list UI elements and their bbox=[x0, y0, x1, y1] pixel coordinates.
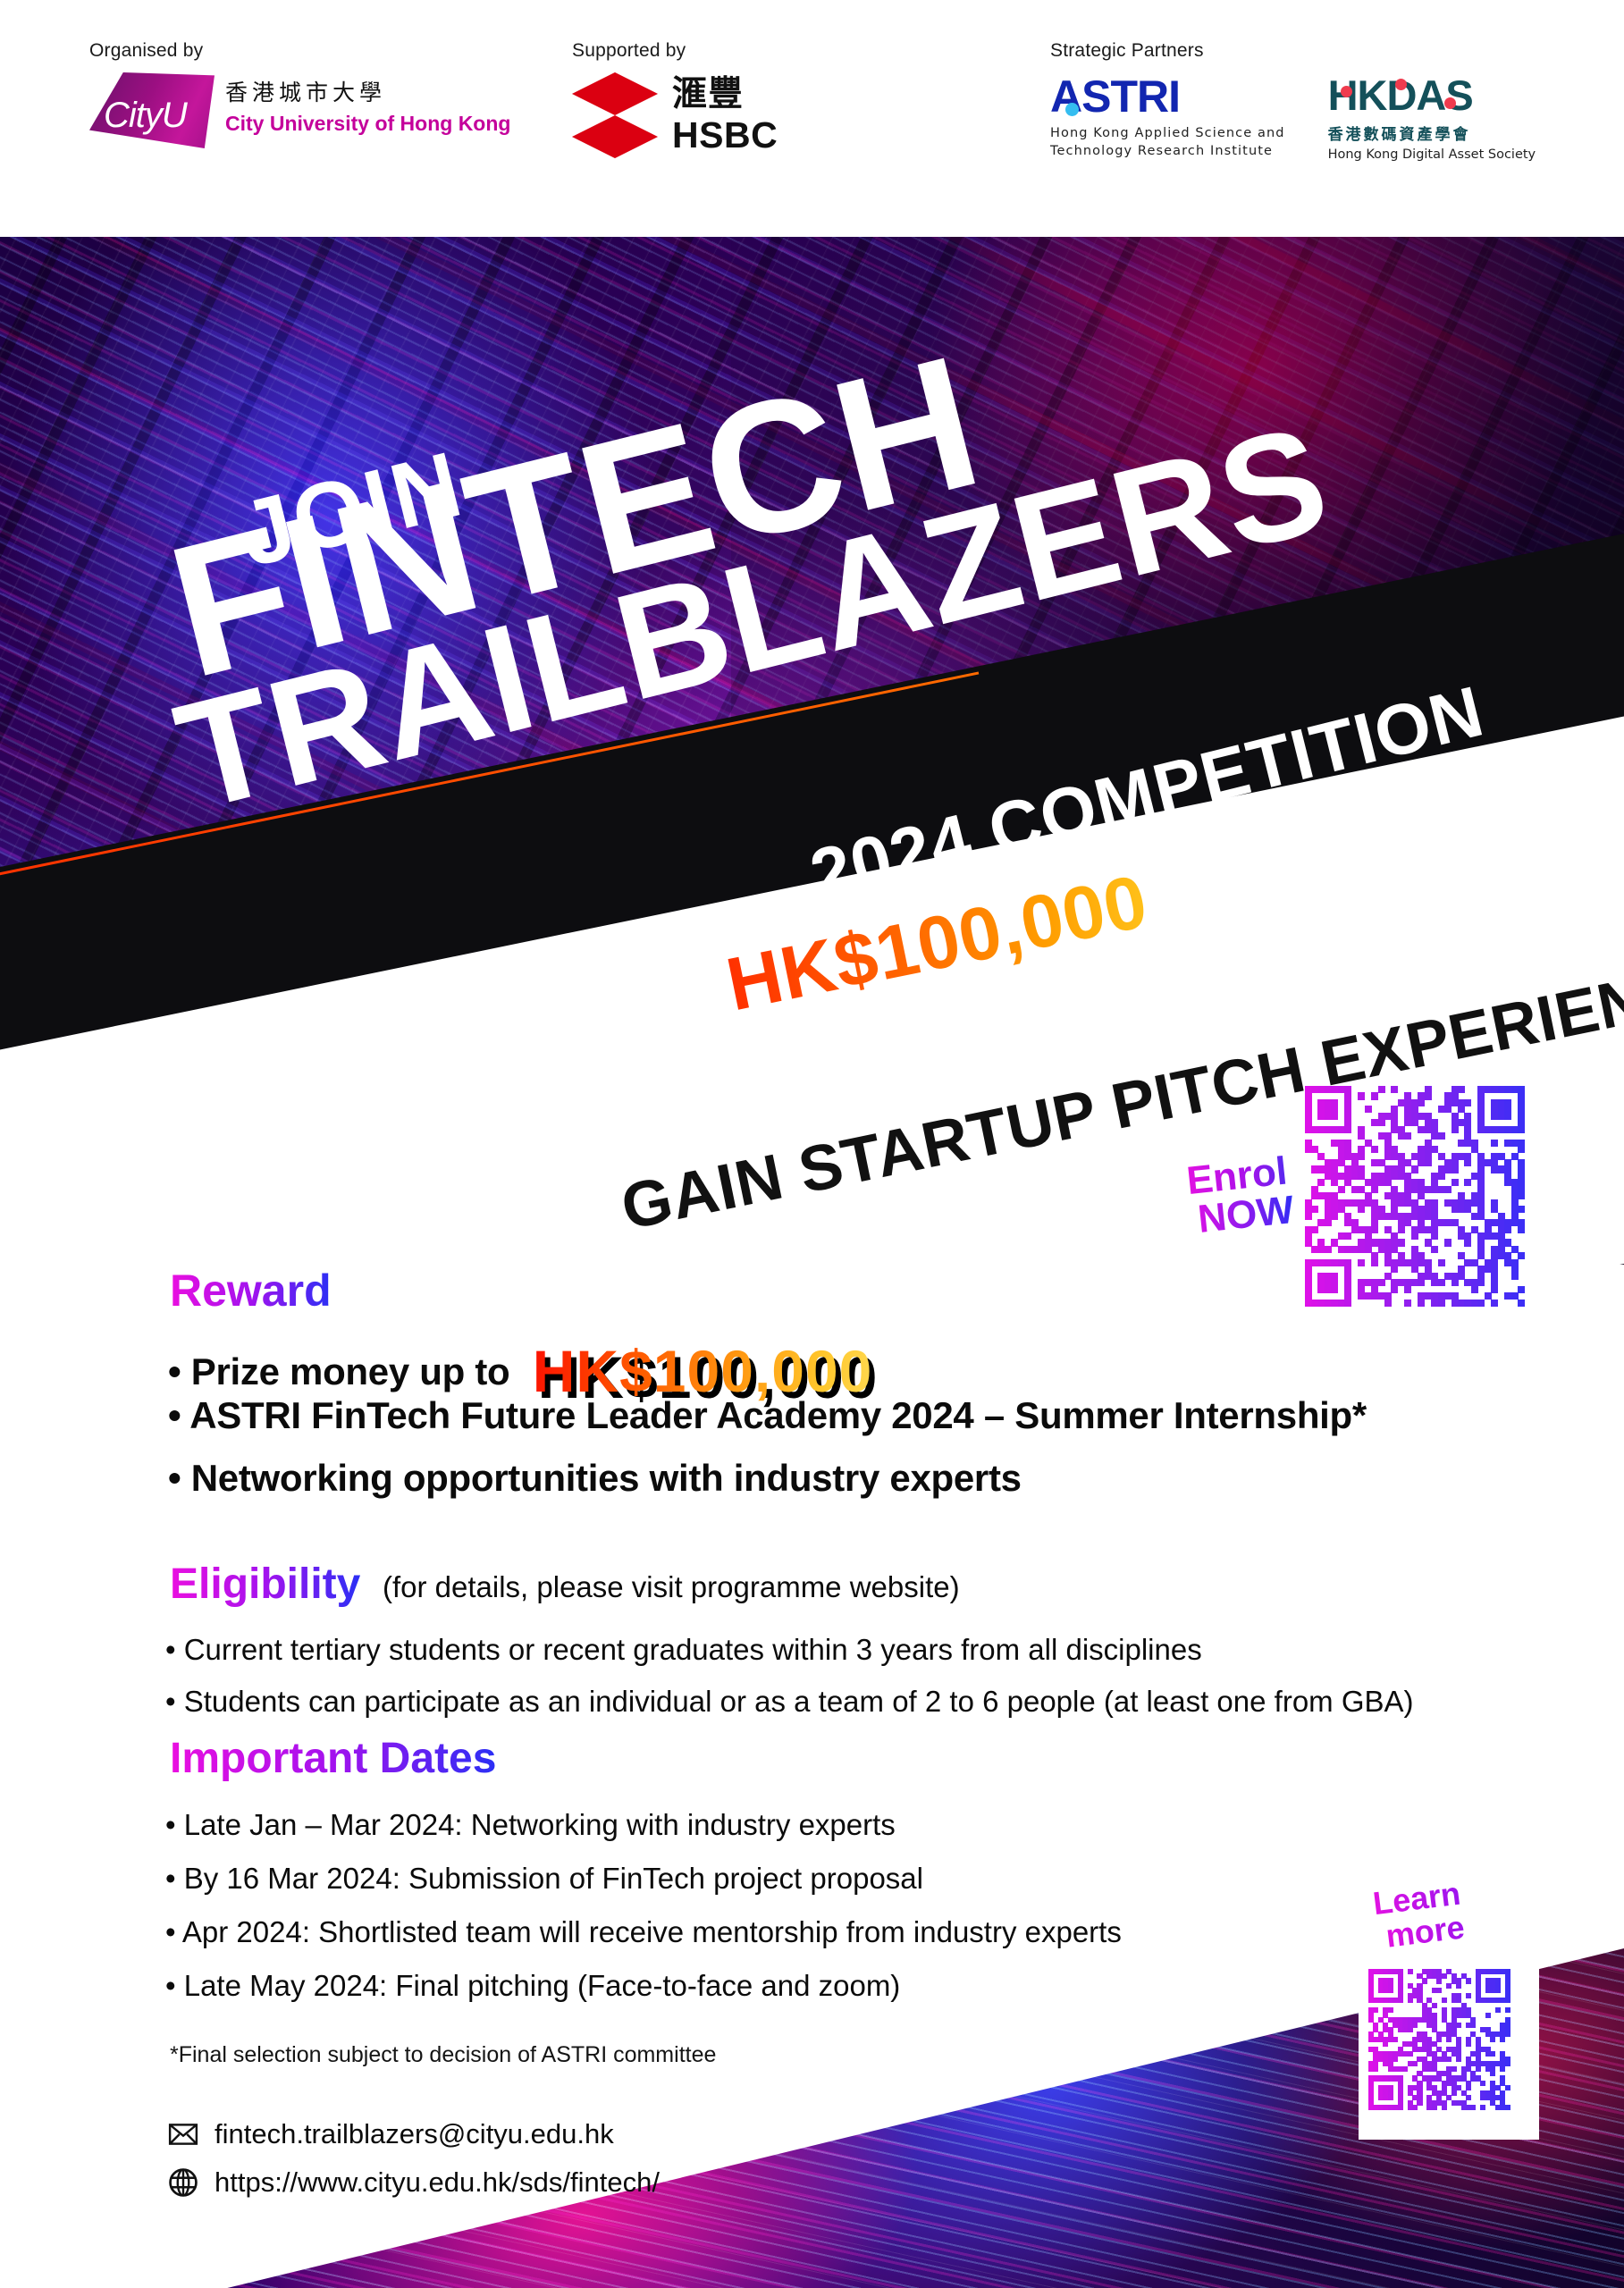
enrol-qr-code[interactable] bbox=[1305, 1086, 1525, 1306]
eligibility-item-2: • Students can participate as an individ… bbox=[165, 1685, 1414, 1719]
reward-prize-amount-fill: HK$100,000 bbox=[533, 1338, 873, 1404]
hsbc-hexagon-icon bbox=[572, 72, 658, 158]
contact-email-line[interactable]: fintech.trailblazers@cityu.edu.hk bbox=[168, 2118, 660, 2150]
reward-bullet-1: • Prize money up to HK$100,000 HK$100,00… bbox=[168, 1330, 872, 1398]
important-date-item-2: • By 16 Mar 2024: Submission of FinTech … bbox=[165, 1862, 923, 1896]
organised-by-label: Organised by bbox=[89, 40, 510, 62]
hkdas-name-zh: 香港數碼資產學會 bbox=[1328, 122, 1536, 144]
hkdas-dot-icon-3 bbox=[1444, 97, 1456, 109]
reward-bullet-1-text: • Prize money up to bbox=[168, 1350, 509, 1392]
astri-subtitle-line1: Hong Kong Applied Science and bbox=[1050, 125, 1285, 143]
important-date-item-4: • Late May 2024: Final pitching (Face-to… bbox=[165, 1969, 900, 2003]
learn-more-block[interactable]: Learn more bbox=[1359, 1877, 1539, 2140]
hkdas-name-en: Hong Kong Digital Asset Society bbox=[1328, 147, 1536, 162]
hkdas-dot-icon-2 bbox=[1395, 79, 1407, 90]
eligibility-item-1: • Current tertiary students or recent gr… bbox=[165, 1633, 1202, 1667]
cityu-name-zh: 香港城市大學 bbox=[225, 75, 510, 107]
poster-root: Organised by CityU 香港城市大學 City Universit… bbox=[0, 0, 1624, 2288]
contact-website-text: https://www.cityu.edu.hk/sds/fintech/ bbox=[215, 2166, 660, 2199]
envelope-icon bbox=[168, 2119, 198, 2149]
learn-qr-frame bbox=[1359, 1959, 1539, 2140]
learn-more-qr-code[interactable] bbox=[1368, 1969, 1510, 2110]
important-date-item-1: • Late Jan – Mar 2024: Networking with i… bbox=[165, 1808, 896, 1842]
hkdas-dot-icon-1 bbox=[1341, 86, 1352, 97]
astri-dot-icon bbox=[1065, 103, 1079, 116]
contact-block: fintech.trailblazers@cityu.edu.hk https:… bbox=[168, 2118, 660, 2215]
strategic-partners-label: Strategic Partners bbox=[1050, 40, 1536, 62]
globe-icon bbox=[168, 2167, 198, 2198]
enrol-now-label: Enrol NOW bbox=[1185, 1151, 1296, 1241]
organiser-logo-block: Organised by CityU 香港城市大學 City Universit… bbox=[89, 40, 510, 148]
reward-prize-amount: HK$100,000 HK$100,000 bbox=[533, 1337, 873, 1405]
important-dates-heading: Important Dates bbox=[170, 1734, 496, 1783]
contact-website-line[interactable]: https://www.cityu.edu.hk/sds/fintech/ bbox=[168, 2166, 660, 2199]
cityu-logo-icon: CityU bbox=[89, 72, 215, 148]
enrol-label-line2: NOW bbox=[1196, 1190, 1296, 1240]
reward-heading: Reward bbox=[170, 1265, 332, 1316]
reward-bullet-3: • Networking opportunities with industry… bbox=[168, 1457, 1022, 1500]
astri-logo: ASTRI Hong Kong Applied Science and Tech… bbox=[1050, 74, 1285, 160]
cityu-mark-text: CityU bbox=[104, 96, 187, 136]
supported-by-label: Supported by bbox=[572, 40, 778, 62]
hkdas-logo: HKDAS 香港數碼資產學會 Hong Kong Digital Asset S… bbox=[1328, 74, 1536, 162]
strategic-partners-block: Strategic Partners ASTRI Hong Kong Appli… bbox=[1050, 40, 1536, 162]
contact-email-text: fintech.trailblazers@cityu.edu.hk bbox=[215, 2118, 614, 2150]
learn-more-label: Learn more bbox=[1371, 1867, 1543, 1954]
cityu-name-en: City University of Hong Kong bbox=[225, 112, 510, 136]
partner-logo-bar: Organised by CityU 香港城市大學 City Universit… bbox=[0, 0, 1624, 237]
eligibility-note: (for details, please visit programme web… bbox=[383, 1570, 960, 1604]
supporter-logo-block: Supported by 滙豐 HSBC bbox=[572, 40, 778, 158]
enrol-now-block[interactable]: Enrol NOW bbox=[1189, 1086, 1525, 1306]
hsbc-name-zh: 滙豐 bbox=[672, 77, 778, 112]
footnote-text: *Final selection subject to decision of … bbox=[170, 2042, 716, 2068]
eligibility-heading: Eligibility bbox=[170, 1560, 360, 1609]
astri-subtitle-line2: Technology Research Institute bbox=[1050, 143, 1285, 161]
hsbc-name-en: HSBC bbox=[672, 117, 778, 154]
important-date-item-3: • Apr 2024: Shortlisted team will receiv… bbox=[165, 1915, 1122, 1949]
astri-wordmark: ASTRI bbox=[1050, 74, 1285, 119]
hkdas-wordmark: HKDAS bbox=[1328, 74, 1536, 116]
